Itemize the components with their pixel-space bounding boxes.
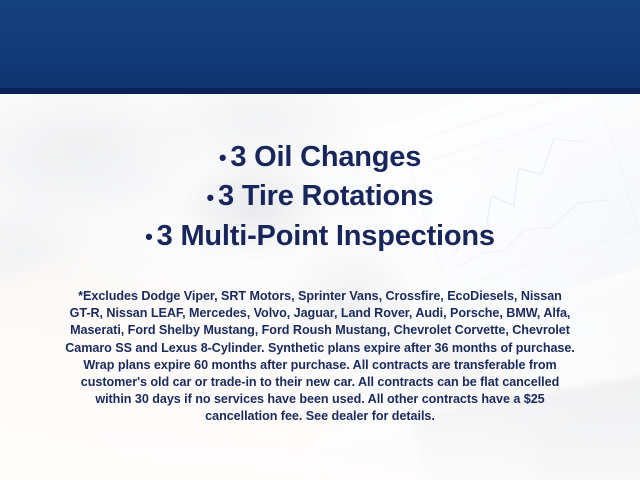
benefit-item: •3 Multi-Point Inspections [0, 217, 640, 256]
header-banner [0, 0, 640, 88]
bullet-icon: • [219, 145, 227, 170]
disclaimer-line: cancellation fee. See dealer for details… [26, 408, 614, 425]
benefits-list: •3 Oil Changes •3 Tire Rotations •3 Mult… [0, 138, 640, 256]
benefit-label: 3 Tire Rotations [218, 180, 433, 212]
disclaimer-line: Wrap plans expire 60 months after purcha… [26, 357, 614, 374]
disclaimer-line: Camaro SS and Lexus 8-Cylinder. Syntheti… [26, 340, 614, 357]
benefit-label: 3 Multi-Point Inspections [157, 220, 495, 252]
disclaimer-line: customer's old car or trade-in to their … [26, 374, 614, 391]
benefit-item: •3 Oil Changes [0, 138, 640, 177]
bullet-icon: • [207, 185, 215, 210]
disclaimer-line: Maserati, Ford Shelby Mustang, Ford Rous… [26, 322, 614, 339]
disclaimer-line: within 30 days if no services have been … [26, 391, 614, 408]
header-divider-rule [0, 88, 640, 94]
disclaimer-line: GT-R, Nissan LEAF, Mercedes, Volvo, Jagu… [26, 305, 614, 322]
extracare-package-ad: ExtraCare Package* •3 Oil Changes •3 Tir… [0, 0, 640, 480]
disclaimer-text: *Excludes Dodge Viper, SRT Motors, Sprin… [26, 288, 614, 426]
benefit-label: 3 Oil Changes [230, 141, 421, 173]
bullet-icon: • [145, 224, 153, 249]
benefit-item: •3 Tire Rotations [0, 177, 640, 216]
disclaimer-line: *Excludes Dodge Viper, SRT Motors, Sprin… [26, 288, 614, 305]
